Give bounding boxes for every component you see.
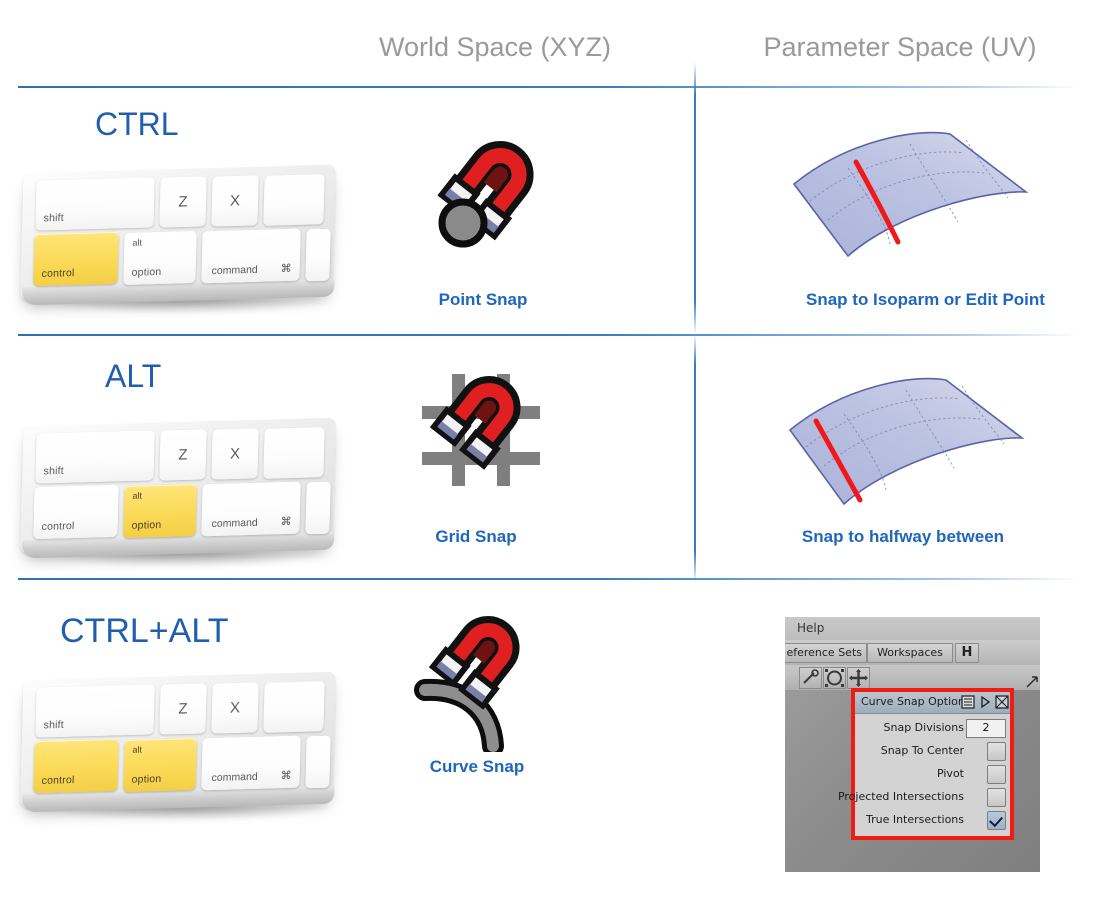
key-command[interactable]: command ⌘ — [201, 482, 301, 537]
caption-snap-halfway: Snap to halfway between — [792, 527, 1014, 547]
key-z[interactable]: Z — [159, 176, 206, 227]
curve-snap-options-title: Curve Snap Options — [861, 695, 971, 708]
key-alt-top-label: alt — [132, 491, 142, 501]
button-h[interactable]: H — [955, 643, 979, 663]
field-row-snap-to-center: Snap To Center — [855, 741, 1010, 762]
key-row1-partial[interactable] — [263, 681, 324, 733]
key-command-label: command — [211, 264, 257, 277]
caption-curve-snap: Curve Snap — [377, 757, 577, 777]
key-alt-top-label: alt — [132, 238, 142, 248]
key-z[interactable]: Z — [159, 683, 206, 734]
divider-horizontal-middle — [18, 334, 1080, 336]
key-control-label: control — [41, 774, 74, 787]
divider-vertical-row1 — [694, 62, 696, 334]
key-z-label: Z — [160, 446, 207, 464]
key-shift[interactable]: shift — [35, 684, 155, 737]
label-snap-to-center: Snap To Center — [881, 744, 964, 757]
nurbs-surface-halfway — [768, 368, 1033, 516]
curve-snap-options-titlebar: Curve Snap Options — [855, 692, 1010, 714]
key-shift-label: shift — [43, 465, 64, 478]
divider-vertical-row2 — [694, 334, 696, 582]
key-control-label: control — [41, 267, 74, 280]
key-row2-partial[interactable] — [305, 482, 330, 535]
tear-off-icon[interactable] — [978, 695, 992, 709]
checkbox-pivot[interactable] — [987, 765, 1006, 784]
maya-menubar: Help — [785, 617, 1040, 641]
key-shift-label: shift — [43, 719, 64, 732]
key-row2-partial[interactable] — [305, 736, 330, 789]
key-z-label: Z — [160, 700, 207, 718]
field-row-pivot: Pivot — [855, 764, 1010, 785]
key-x-label: X — [212, 192, 259, 210]
command-glyph-icon: ⌘ — [280, 769, 291, 782]
key-command[interactable]: command ⌘ — [201, 229, 301, 284]
lasso-select-icon[interactable] — [823, 667, 846, 689]
key-row1-partial[interactable] — [263, 174, 324, 226]
label-projected-intersections: Projected Intersections — [838, 790, 964, 803]
caption-grid-snap: Grid Snap — [376, 527, 576, 547]
key-alt-option[interactable]: alt option — [123, 738, 197, 792]
button-workspaces[interactable]: Workspaces — [867, 643, 953, 663]
button-reference-sets[interactable]: eference Sets — [785, 643, 867, 663]
column-header-parameter-space: Parameter Space (UV) — [750, 32, 1050, 63]
magnet-grid-snap-icon — [412, 372, 562, 500]
checkbox-snap-to-center[interactable] — [987, 742, 1006, 761]
key-control-label: control — [41, 520, 74, 533]
key-alt-option[interactable]: alt option — [123, 231, 197, 285]
magnet-curve-snap-icon — [405, 612, 565, 752]
key-x-label: X — [212, 699, 259, 717]
divider-horizontal-top — [18, 86, 1080, 88]
label-true-intersections: True Intersections — [866, 813, 964, 826]
command-glyph-icon: ⌘ — [280, 262, 291, 275]
field-row-true-intersections: True Intersections — [855, 810, 1010, 831]
key-alt-label: option — [131, 519, 161, 532]
diagram-canvas: World Space (XYZ) Parameter Space (UV) C… — [0, 0, 1100, 900]
key-shift-label: shift — [43, 212, 64, 225]
key-control[interactable]: control — [33, 485, 119, 539]
key-alt-label: option — [131, 266, 161, 279]
checkbox-projected-intersections[interactable] — [987, 788, 1006, 807]
key-alt-option[interactable]: alt option — [123, 484, 197, 538]
key-command-label: command — [211, 517, 257, 530]
key-x[interactable]: X — [211, 428, 258, 479]
move-tool-icon[interactable] — [847, 667, 870, 689]
key-x-label: X — [212, 445, 259, 463]
key-command-label: command — [211, 771, 257, 784]
field-row-snap-divisions: Snap Divisions 2 — [855, 718, 1010, 739]
keyboard-ctrl: shift Z X control alt option command ⌘ — [10, 165, 340, 320]
row-label-ctrl: CTRL — [95, 106, 179, 143]
menu-help[interactable]: Help — [797, 621, 824, 635]
menu-icon[interactable] — [961, 695, 975, 709]
keyboard-alt: shift Z X control alt option command ⌘ — [10, 418, 340, 573]
key-x[interactable]: X — [211, 682, 258, 733]
key-shift[interactable]: shift — [35, 430, 155, 483]
key-row1-partial[interactable] — [263, 427, 324, 479]
input-snap-divisions[interactable]: 2 — [966, 719, 1006, 738]
label-pivot: Pivot — [937, 767, 964, 780]
row-label-ctrl-alt: CTRL+ALT — [60, 612, 228, 651]
nurbs-surface-isoparm — [778, 122, 1038, 267]
key-z[interactable]: Z — [159, 429, 206, 480]
key-x[interactable]: X — [211, 175, 258, 226]
key-z-label: Z — [160, 193, 207, 211]
command-glyph-icon: ⌘ — [280, 515, 291, 528]
caption-point-snap: Point Snap — [383, 290, 583, 310]
key-alt-top-label: alt — [132, 745, 142, 755]
key-control[interactable]: control — [33, 739, 119, 793]
close-icon[interactable] — [995, 695, 1009, 709]
maya-curve-snap-options-panel: Help eference Sets Workspaces H — [785, 617, 1040, 872]
curve-snap-options-window: Curve Snap Options Snap Divisions 2 Sn — [851, 688, 1014, 840]
key-command[interactable]: command ⌘ — [201, 736, 301, 791]
caption-snap-to-isoparm: Snap to Isoparm or Edit Point — [806, 290, 1028, 310]
paint-select-icon[interactable] — [799, 667, 822, 689]
resize-corner-icon[interactable] — [1025, 675, 1039, 689]
keyboard-ctrl-alt: shift Z X control alt option command ⌘ — [10, 672, 340, 827]
label-snap-divisions: Snap Divisions — [884, 721, 965, 734]
key-row2-partial[interactable] — [305, 229, 330, 282]
magnet-point-snap-icon — [425, 135, 565, 260]
key-control[interactable]: control — [33, 232, 119, 286]
maya-toolbar-row1: eference Sets Workspaces H — [785, 640, 1040, 666]
key-shift[interactable]: shift — [35, 177, 155, 230]
divider-horizontal-bottom — [18, 578, 1080, 580]
checkbox-true-intersections[interactable] — [987, 811, 1006, 830]
column-header-world-space: World Space (XYZ) — [345, 32, 645, 63]
key-alt-label: option — [131, 773, 161, 786]
row-label-alt: ALT — [105, 358, 161, 395]
field-row-projected-intersections: Projected Intersections — [855, 787, 1010, 808]
